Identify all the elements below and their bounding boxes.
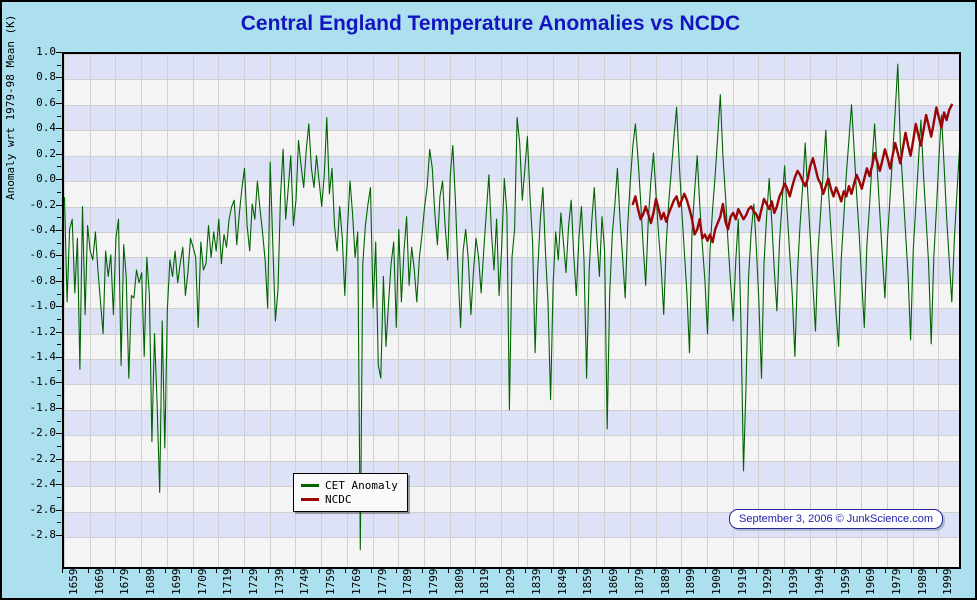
y-tick-label: -0.2: [2, 200, 56, 210]
y-minor-tick-mark: [57, 243, 61, 244]
y-minor-tick-mark: [57, 319, 61, 320]
y-minor-tick-mark: [57, 166, 61, 167]
y-tick-label: 0.0: [2, 174, 56, 184]
series-line-cet-anomaly: [65, 64, 960, 550]
legend-swatch-ncdc: [301, 498, 319, 501]
chart-legend: CET Anomaly NCDC: [293, 473, 408, 512]
page-title: Central England Temperature Anomalies vs…: [2, 12, 977, 36]
x-tick-label: 1679: [118, 569, 131, 596]
x-tick-label: 1759: [324, 569, 337, 596]
x-tick-label: 1819: [478, 569, 491, 596]
x-tick-label: 1879: [633, 569, 646, 596]
y-minor-tick-mark: [57, 268, 61, 269]
x-tick-label: 1919: [736, 569, 749, 596]
x-tick-label: 1719: [221, 569, 234, 596]
x-tick-label: 1889: [659, 569, 672, 596]
y-tick-label: -0.6: [2, 250, 56, 260]
y-minor-tick-mark: [57, 395, 61, 396]
x-tick-label: 1949: [813, 569, 826, 596]
x-tick-label: 1669: [93, 569, 106, 596]
x-tick-label: 1909: [710, 569, 723, 596]
legend-label-cet: CET Anomaly: [325, 479, 398, 492]
legend-label-ncdc: NCDC: [325, 493, 352, 506]
y-minor-tick-mark: [57, 294, 61, 295]
x-tick-label: 1979: [890, 569, 903, 596]
legend-swatch-cet: [301, 484, 319, 487]
y-minor-tick-mark: [57, 497, 61, 498]
x-tick-label: 1709: [196, 569, 209, 596]
x-tick-label: 1699: [170, 569, 183, 596]
y-tick-label: 0.8: [2, 72, 56, 82]
x-tick-label: 1969: [864, 569, 877, 596]
y-minor-tick-mark: [57, 217, 61, 218]
y-tick-label: -1.4: [2, 352, 56, 362]
x-tick-label: 1839: [530, 569, 543, 596]
x-tick-label: 1929: [761, 569, 774, 596]
x-tick-label: 1899: [684, 569, 697, 596]
x-tick-label: 1749: [298, 569, 311, 596]
y-minor-tick-mark: [57, 116, 61, 117]
x-tick-label: 1689: [144, 569, 157, 596]
y-minor-tick-mark: [57, 522, 61, 523]
legend-item-cet: CET Anomaly: [301, 478, 398, 492]
x-tick-label: 1859: [581, 569, 594, 596]
x-tick-label: 1989: [916, 569, 929, 596]
y-minor-tick-mark: [57, 421, 61, 422]
y-tick-label: 1.0: [2, 47, 56, 57]
y-tick-label: -2.2: [2, 454, 56, 464]
plot-canvas: [62, 52, 961, 569]
y-tick-label: -2.6: [2, 505, 56, 515]
y-minor-tick-mark: [57, 471, 61, 472]
y-tick-label: -1.6: [2, 377, 56, 387]
x-tick-label: 1959: [839, 569, 852, 596]
watermark-stamp: September 3, 2006 © JunkScience.com: [729, 509, 943, 529]
y-minor-tick-mark: [57, 192, 61, 193]
x-tick-label: 1869: [607, 569, 620, 596]
y-tick-label: -1.2: [2, 327, 56, 337]
x-tick-label: 1939: [787, 569, 800, 596]
y-tick-label: -0.8: [2, 276, 56, 286]
y-tick-label: -2.8: [2, 530, 56, 540]
y-tick-label: -2.0: [2, 428, 56, 438]
y-minor-tick-mark: [57, 65, 61, 66]
y-minor-tick-mark: [57, 344, 61, 345]
plot-area: [62, 52, 957, 565]
x-tick-label: 1659: [67, 569, 80, 596]
legend-item-ncdc: NCDC: [301, 492, 398, 506]
series-line-ncdc: [633, 105, 952, 242]
y-minor-tick-mark: [57, 141, 61, 142]
x-tick-label: 1809: [453, 569, 466, 596]
data-series-svg: [64, 54, 959, 567]
y-tick-label: -1.8: [2, 403, 56, 413]
x-tick-label: 1739: [273, 569, 286, 596]
chart-frame: Central England Temperature Anomalies vs…: [0, 0, 977, 600]
x-tick-label: 1769: [350, 569, 363, 596]
x-tick-label: 1999: [941, 569, 954, 596]
x-tick-label: 1789: [401, 569, 414, 596]
y-tick-label: 0.6: [2, 98, 56, 108]
y-tick-label: 0.4: [2, 123, 56, 133]
y-minor-tick-mark: [57, 370, 61, 371]
y-tick-label: 0.2: [2, 149, 56, 159]
x-tick-label: 1849: [556, 569, 569, 596]
y-tick-label: -1.0: [2, 301, 56, 311]
x-tick-label: 1829: [504, 569, 517, 596]
y-tick-label: -2.4: [2, 479, 56, 489]
x-tick-label: 1729: [247, 569, 260, 596]
y-tick-label: -0.4: [2, 225, 56, 235]
y-minor-tick-mark: [57, 90, 61, 91]
x-tick-label: 1799: [427, 569, 440, 596]
x-tick-label: 1779: [376, 569, 389, 596]
y-minor-tick-mark: [57, 446, 61, 447]
